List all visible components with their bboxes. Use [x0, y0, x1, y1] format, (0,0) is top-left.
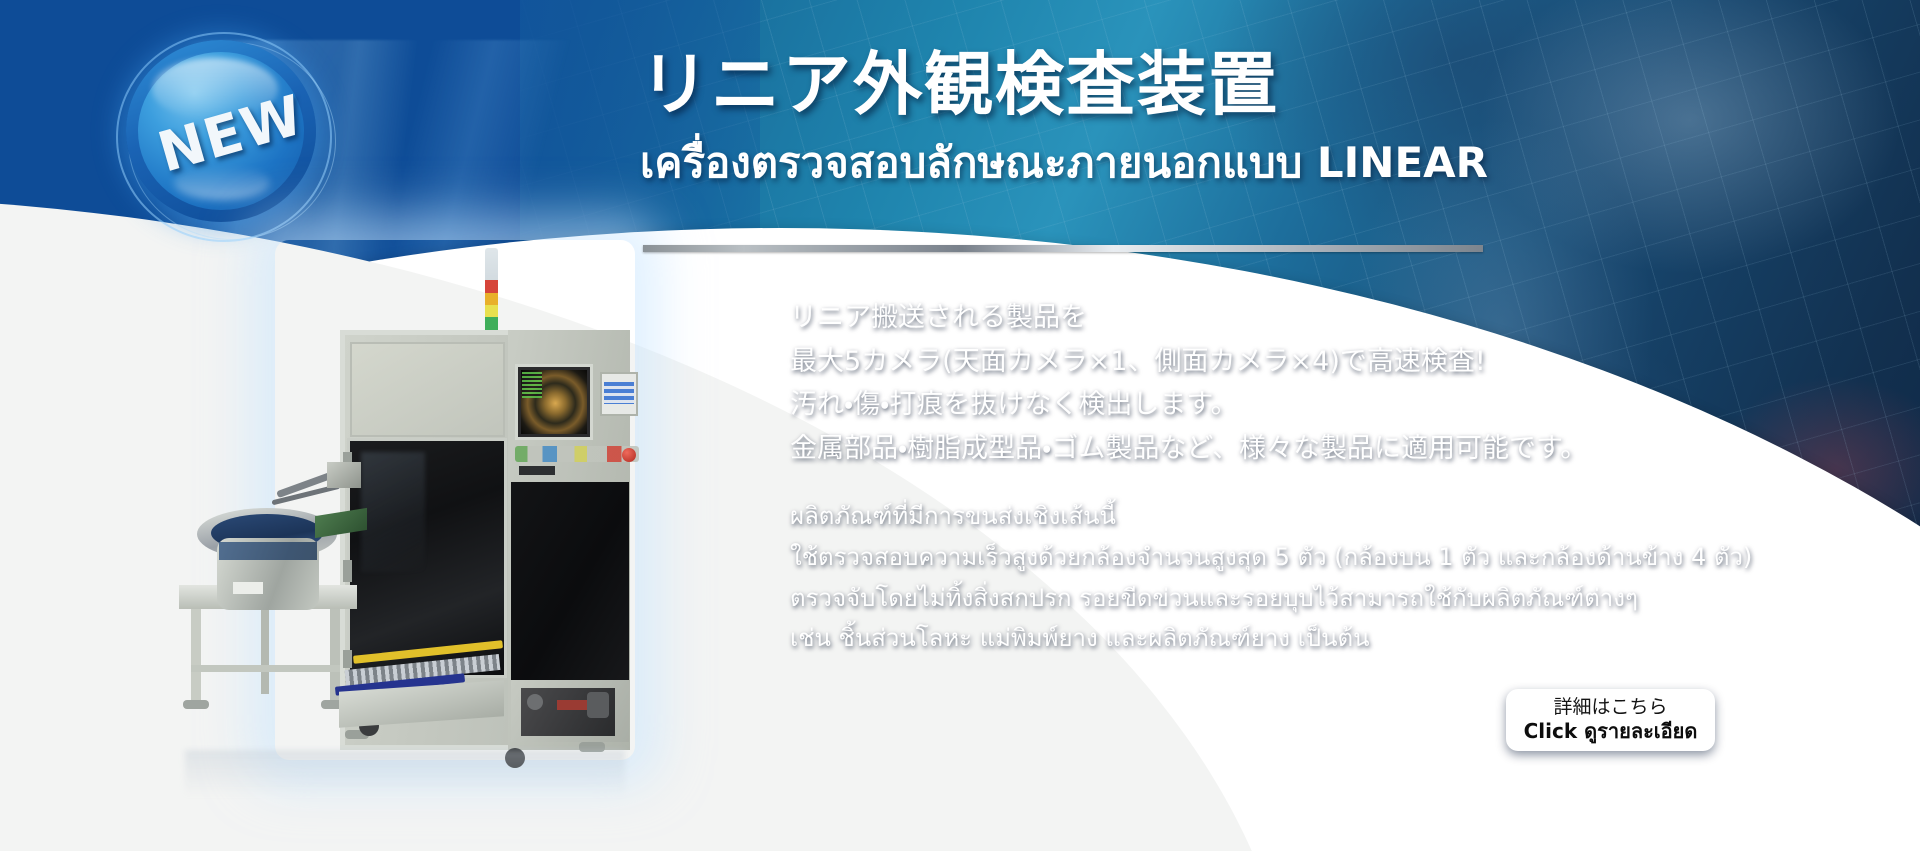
control-panel-slot [519, 466, 555, 475]
new-badge: NEW [108, 26, 344, 252]
emergency-stop-button [622, 448, 636, 462]
promo-banner: NEW [0, 0, 1920, 851]
product-machine-image [175, 230, 675, 790]
machine-upper-panel [350, 342, 505, 437]
page-title-japanese: リニア外観検査装置 [640, 48, 1279, 123]
body-jp-line-1: リニア搬送される製品を [790, 296, 1587, 340]
table-cross-brace [191, 665, 340, 672]
new-badge-label: NEW [151, 82, 310, 184]
hmi-screen [604, 382, 634, 404]
signal-lamp-green [485, 317, 498, 330]
feeder-hopper [327, 462, 361, 488]
body-th-line-4: เช่น ชิ้นส่วนโลหะ แม่พิมพ์ยาง และผลิตภัณ… [790, 618, 1752, 659]
machine-lower-dark-body [511, 482, 629, 680]
leveling-foot-1 [183, 700, 209, 709]
door-hinge-bottom [343, 650, 352, 668]
bowl-feeder-label [233, 582, 263, 594]
internals-valve [527, 694, 543, 710]
control-button-row [515, 446, 639, 462]
body-th-line-3: ตรวจจับโดยไม่ทิ้งสิ่งสกปรก รอยขีดข่วนและ… [790, 578, 1752, 619]
door-hinge-middle [343, 560, 352, 582]
body-th-line-2: ใช้ตรวจสอบความเร็วสูงด้วยกล้องจำนวนสูงสุ… [790, 537, 1752, 578]
page-title-thai: เครื่องตรวจสอบลักษณะภายนอกแบบ LINEAR [640, 140, 1488, 186]
cta-label-japanese: 詳細はこちら [1553, 696, 1667, 720]
monitor-sidebar-ui [522, 372, 542, 398]
cta-label-thai: Click ดูรายละเอียด [1524, 719, 1698, 744]
vibratory-bowl-band [219, 542, 317, 560]
title-divider [643, 245, 1483, 252]
signal-lamp-yellow [485, 305, 498, 317]
glass-reflection [361, 452, 425, 572]
body-jp-line-2: 最大5カメラ(天面カメラ×1、側面カメラ×4)で高速検査! [790, 340, 1587, 384]
signal-lamp-red [485, 280, 498, 293]
table-leg-left [191, 609, 201, 704]
internals-wiring [557, 700, 587, 710]
signal-lamp-amber [485, 293, 498, 305]
body-text-japanese: リニア搬送される製品を 最大5カメラ(天面カメラ×1、側面カメラ×4)で高速検査… [790, 296, 1587, 471]
body-jp-line-3: 汚れ・傷・打痕を抜けなく検出します。 [790, 383, 1587, 427]
body-jp-line-4: 金属部品・樹脂成型品・ゴム製品など、様々な製品に適用可能です。 [790, 427, 1587, 471]
body-th-line-1: ผลิตภัณฑ์ที่มีการขนส่งเชิงเส้นนี้ [790, 496, 1752, 537]
internals-module [587, 692, 609, 718]
body-text-thai: ผลิตภัณฑ์ที่มีการขนส่งเชิงเส้นนี้ ใช้ตรว… [790, 496, 1752, 659]
table-leg-center [261, 609, 269, 694]
floor-reflection [185, 750, 625, 796]
details-cta-button[interactable]: 詳細はこちら Click ดูรายละเอียด [1506, 689, 1715, 751]
